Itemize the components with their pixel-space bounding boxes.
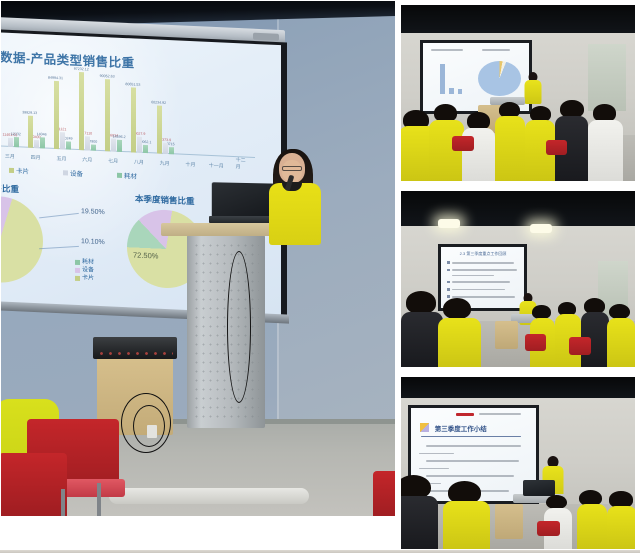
photo-collage: 础数据-产品类型销售比重 11461.531223239929.13104001… [0, 0, 640, 553]
pie-left [1, 194, 43, 284]
x-axis-label: 六月 [82, 156, 92, 163]
bar-group [208, 78, 225, 157]
pie-legend-card: 卡片 [75, 274, 94, 283]
legend-item-card: 卡片 [9, 165, 29, 176]
bar-group [234, 79, 251, 158]
bar-耗材 [169, 147, 174, 154]
legend-item-device: 设备 [63, 167, 83, 178]
pie-right-label-3: 72.50% [133, 250, 158, 260]
bar-耗材 [14, 137, 19, 147]
bar-设备 [8, 138, 13, 147]
x-axis-label: 十二月 [236, 156, 249, 171]
audience [401, 82, 635, 181]
legend-label-device: 设备 [70, 168, 83, 179]
presenter-woman [263, 153, 325, 245]
presenter-yellow-shirt [269, 183, 321, 245]
bar-设备 [111, 139, 116, 152]
classroom-text-slide-photo: 2.3 第三季度重点工作回顾 [400, 190, 636, 368]
x-axis-label: 四月 [31, 154, 41, 161]
pie-left-legend: 耗材 设备 卡片 [75, 258, 94, 283]
bar-设备 [34, 140, 39, 149]
bar-卡片 [28, 116, 33, 148]
legend-label-card: 卡片 [16, 165, 29, 176]
podium [187, 233, 265, 428]
bar-设备 [163, 143, 168, 154]
red-chair-3 [373, 471, 395, 516]
quarterly-summary-photo: 第三季度工作小结 [400, 376, 636, 550]
bar-group [2, 68, 19, 147]
legend-item-consumable: 耗材 [117, 170, 137, 181]
chair-leg-1 [97, 483, 101, 516]
bar-group [28, 70, 45, 149]
bar-设备 [85, 137, 90, 151]
bar-耗材 [66, 141, 71, 149]
bar-设备 [137, 137, 142, 153]
chair-leg-2 [61, 489, 65, 516]
x-axis-label: 十月 [185, 161, 195, 168]
ceiling-light-1 [438, 219, 460, 228]
x-axis-label: 十一月 [209, 162, 224, 170]
legend-label-consumable: 耗材 [124, 170, 137, 181]
audio-mixer [93, 337, 177, 359]
bar-耗材 [117, 140, 122, 152]
x-axis-label: 八月 [134, 158, 144, 165]
bar-chart: 11461.531223239929.13104001404684994.312… [1, 68, 255, 172]
bar-group [183, 77, 200, 156]
bar-group [131, 74, 148, 153]
x-axis-label: 五月 [56, 155, 66, 162]
bar-卡片 [79, 72, 84, 150]
audience [401, 466, 635, 549]
bar-卡片 [105, 79, 110, 151]
housing-cap [253, 33, 279, 41]
floor-pipe [109, 488, 309, 504]
bar-卡片 [157, 105, 162, 154]
bar-卡片 [131, 88, 136, 153]
bar-耗材 [91, 144, 96, 151]
bar-group [157, 76, 174, 155]
pie-right-title: 本季度销售比重 [135, 193, 195, 208]
x-axis-label: 三月 [5, 153, 15, 160]
classroom-wide-photo [400, 4, 636, 182]
bar-value-label: 97232.12 [74, 67, 89, 72]
pie-left-label-1: 19.50% [81, 208, 105, 216]
podium-cable [227, 251, 251, 403]
pie-left-title: 销售比重 [1, 182, 19, 196]
bar-卡片 [54, 81, 59, 149]
audience [401, 279, 635, 367]
bar-设备 [60, 132, 65, 149]
pie-left-leader-1 [39, 213, 79, 218]
bar-group [79, 72, 96, 151]
bar-耗材 [143, 145, 148, 153]
decorative-square-icon [420, 423, 429, 432]
slide-title: 础数据-产品类型销售比重 [1, 46, 135, 72]
ceiling [401, 5, 635, 37]
ceiling-light-2 [530, 224, 552, 233]
bar-group [54, 71, 71, 150]
summary-slide-title: 第三季度工作小结 [435, 423, 487, 433]
bar-group [105, 73, 122, 152]
x-axis-label: 九月 [160, 160, 170, 167]
bar-耗材 [40, 137, 45, 148]
wall-outlet [147, 425, 157, 438]
main-presentation-photo: 础数据-产品类型销售比重 11461.531223239929.13104001… [0, 0, 396, 517]
pie-legend-label-card: 卡片 [82, 274, 94, 283]
glasses-icon [282, 166, 302, 171]
bar-chart-legend: 卡片 设备 耗材 [9, 165, 137, 181]
company-logo [456, 413, 474, 416]
pie-left-leader-2 [39, 246, 79, 249]
pie-left-label-2: 10.10% [81, 238, 105, 246]
red-chair-2 [1, 453, 67, 516]
ceiling [401, 191, 635, 230]
x-axis-label: 七月 [108, 157, 118, 164]
